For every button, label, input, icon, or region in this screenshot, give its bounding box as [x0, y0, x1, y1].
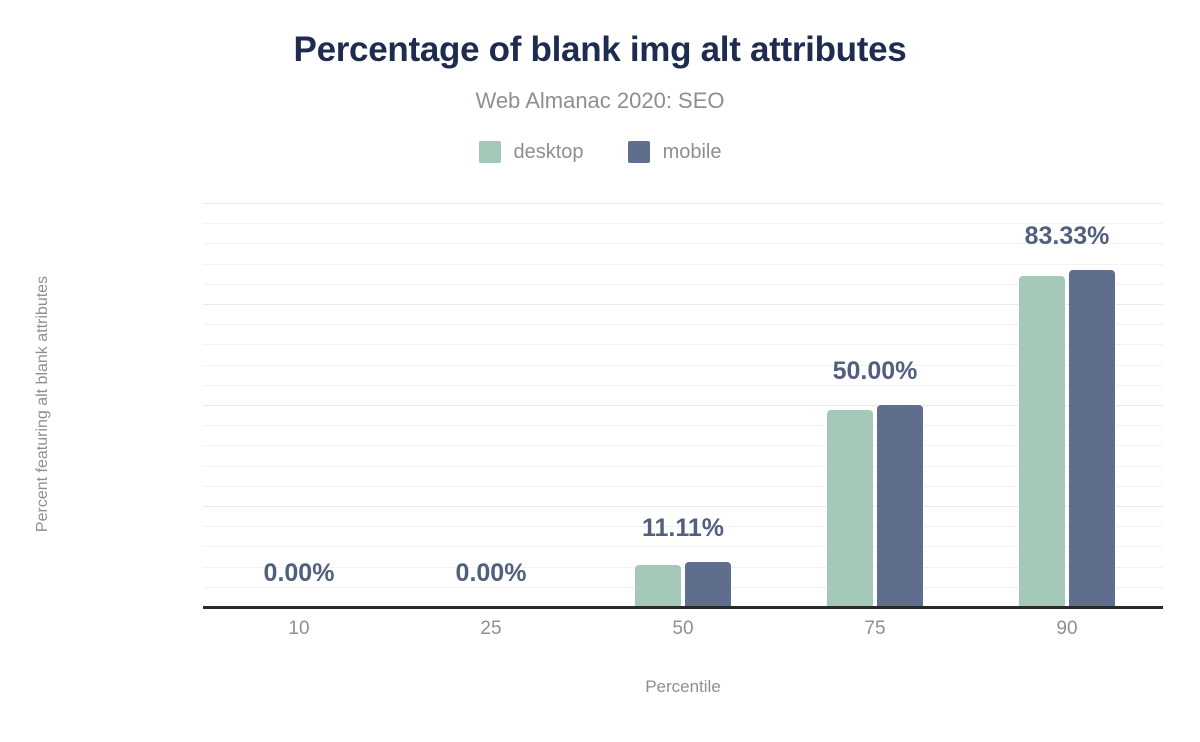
x-tick-label: 50	[672, 618, 693, 640]
gridline-minor	[203, 243, 1163, 244]
bar-mobile-50[interactable]	[685, 562, 731, 607]
x-axis-title: Percentile	[203, 677, 1163, 697]
bar-desktop-75[interactable]	[827, 410, 873, 607]
plot-area	[203, 203, 1163, 607]
chart-container: Percentage of blank img alt attributes W…	[0, 0, 1200, 742]
gridline-major	[203, 203, 1163, 204]
data-label-50: 11.11%	[642, 514, 724, 543]
data-label-25: 0.00%	[456, 559, 527, 588]
x-tick-label: 10	[288, 618, 309, 640]
bar-desktop-90[interactable]	[1019, 276, 1065, 607]
data-label-90: 83.33%	[1025, 222, 1110, 251]
x-tick-label: 90	[1056, 618, 1077, 640]
data-label-10: 0.00%	[264, 559, 335, 588]
gridline-minor	[203, 223, 1163, 224]
bar-mobile-90[interactable]	[1069, 270, 1115, 607]
plot-wrapper: Percent featuring alt blank attributes 0…	[0, 0, 1200, 742]
bar-desktop-50[interactable]	[635, 565, 681, 607]
x-tick-label: 75	[864, 618, 885, 640]
y-axis-title: Percent featuring alt blank attributes	[34, 254, 52, 554]
data-label-75: 50.00%	[833, 357, 918, 386]
x-axis-line	[203, 606, 1163, 609]
bar-mobile-75[interactable]	[877, 405, 923, 607]
gridline-minor	[203, 264, 1163, 265]
x-tick-label: 25	[480, 618, 501, 640]
